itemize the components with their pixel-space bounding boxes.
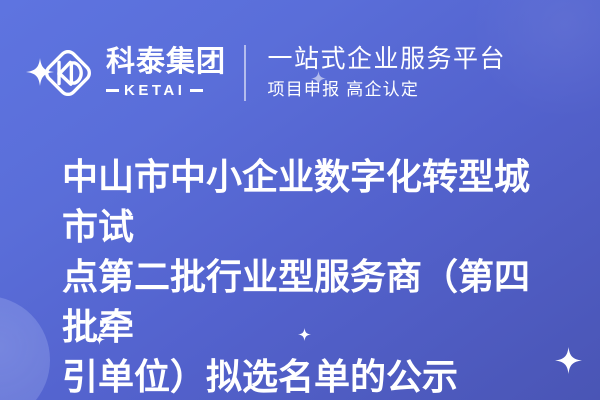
brand-name-cn: 科泰集团: [106, 48, 226, 77]
wordmark-rule-right: [190, 89, 203, 92]
title-line-3: 引单位）拟选名单的公示: [62, 352, 562, 400]
banner-title: 中山市中小企业数字化转型城市试 点第二批行业型服务商（第四批牵 引单位）拟选名单…: [62, 152, 562, 400]
tagline-block: 一站式企业服务平台 项目申报 高企认定: [268, 45, 507, 101]
promo-banner: 科泰集团 KETAI 一站式企业服务平台 项目申报 高企认定 中山市中小企业数字…: [0, 0, 600, 400]
banner-header: 科泰集团 KETAI 一站式企业服务平台 项目申报 高企认定: [0, 34, 600, 112]
ketai-logo-icon: [40, 45, 96, 101]
brand-name-en: KETAI: [119, 83, 190, 98]
wordmark-rule-left: [106, 89, 119, 92]
brand-name-en-row: KETAI: [106, 83, 226, 98]
brand-lockup: 科泰集团 KETAI: [26, 45, 226, 101]
header-divider: [244, 45, 246, 101]
light-circle-bottom-left: [0, 296, 50, 400]
tagline-main: 一站式企业服务平台: [268, 45, 507, 75]
brand-wordmark: 科泰集团 KETAI: [106, 48, 226, 98]
title-line-2: 点第二批行业型服务商（第四批牵: [62, 252, 562, 352]
tagline-sub: 项目申报 高企认定: [268, 79, 507, 101]
title-line-1: 中山市中小企业数字化转型城市试: [62, 152, 562, 252]
